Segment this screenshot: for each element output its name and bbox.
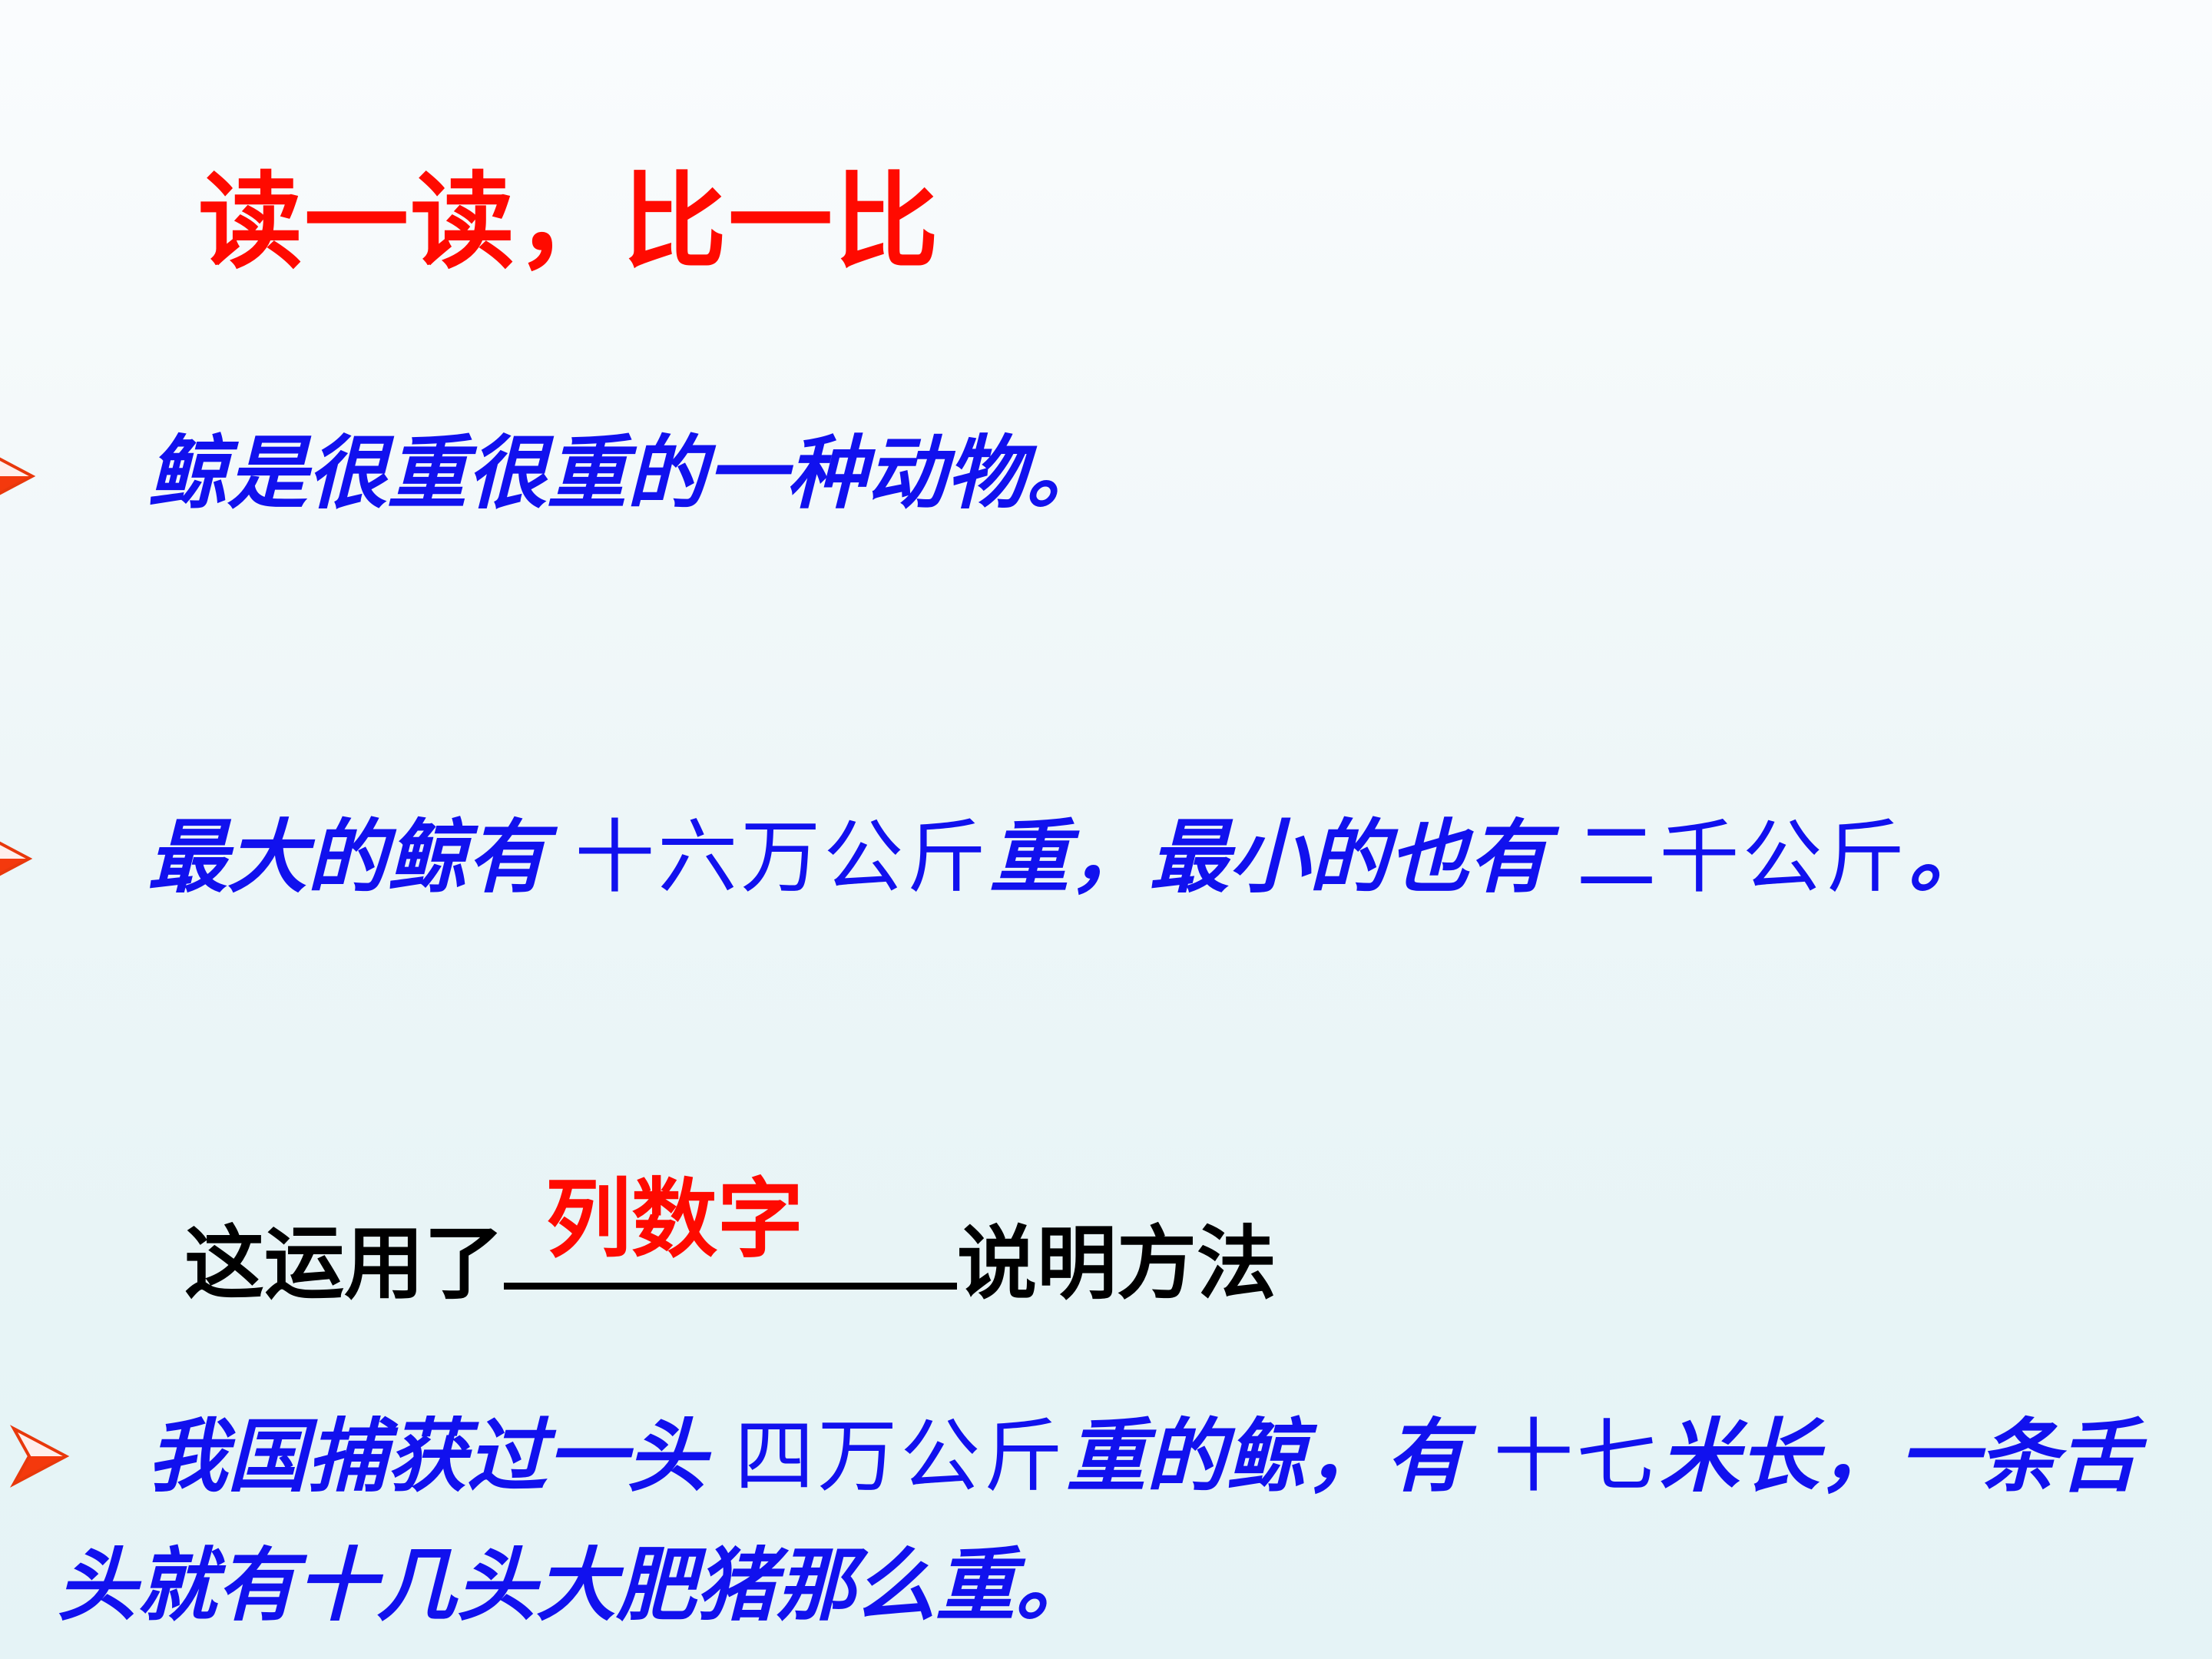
sentence-suffix: 说明方法 bbox=[957, 1217, 1277, 1310]
body-content: 鲸是很重很重的一种动物。 最大的鲸有 十六万公斤重，最小的也有 二千公斤。 bbox=[0, 430, 2212, 1221]
paragraph-number-segment: 十六万公斤 bbox=[575, 810, 989, 904]
list-item: 我国捕获过一头 四万公斤重的鲸，有 十七米长，一条舌头就有十几头大肥猪那么重。 bbox=[0, 929, 2212, 1221]
list-item: 最大的鲸有 十六万公斤重，最小的也有 二千公斤。 bbox=[0, 622, 2212, 929]
fill-in-blank-sentence: 这运用了列数字说明方法 bbox=[184, 1198, 1277, 1344]
paragraph-segment: 重的鲸，有 bbox=[1066, 1409, 1493, 1503]
page-title: 读一读，比一比 bbox=[198, 171, 940, 275]
list-item: 鲸是很重很重的一种动物。 bbox=[0, 430, 2212, 622]
paragraph-number-segment: 四万公斤 bbox=[734, 1409, 1066, 1503]
blank-underline bbox=[504, 1283, 957, 1290]
paragraph-segment: 重，最小的也有 bbox=[989, 810, 1576, 904]
blank-answer-text: 列数字 bbox=[545, 1150, 803, 1274]
arrow-triangle-right-icon bbox=[0, 441, 43, 512]
sentence-prefix: 这运用了 bbox=[184, 1217, 504, 1310]
arrow-triangle-right-icon bbox=[0, 823, 40, 894]
paragraph-number-segment: 二千公斤 bbox=[1576, 810, 1908, 904]
paragraph-segment: 鲸是很重很重的一种动物。 bbox=[147, 426, 1106, 520]
slide-canvas: 读一读，比一比 鲸是很重很重的一种动物。 bbox=[0, 0, 2212, 1659]
paragraph-segment: 。 bbox=[1908, 810, 1988, 904]
paragraph-text: 鲸是很重很重的一种动物。 bbox=[57, 409, 1106, 538]
paragraph-segment: 最大的鲸有 bbox=[147, 810, 575, 904]
paragraph-number-segment: 十七 bbox=[1493, 1409, 1659, 1503]
paragraph-segment: 我国捕获过一头 bbox=[147, 1409, 734, 1503]
paragraph-text: 最大的鲸有 十六万公斤重，最小的也有 二千公斤。 bbox=[57, 793, 2212, 922]
paragraph-text: 我国捕获过一头 四万公斤重的鲸，有 十七米长，一条舌头就有十几头大肥猪那么重。 bbox=[57, 1392, 2207, 1651]
